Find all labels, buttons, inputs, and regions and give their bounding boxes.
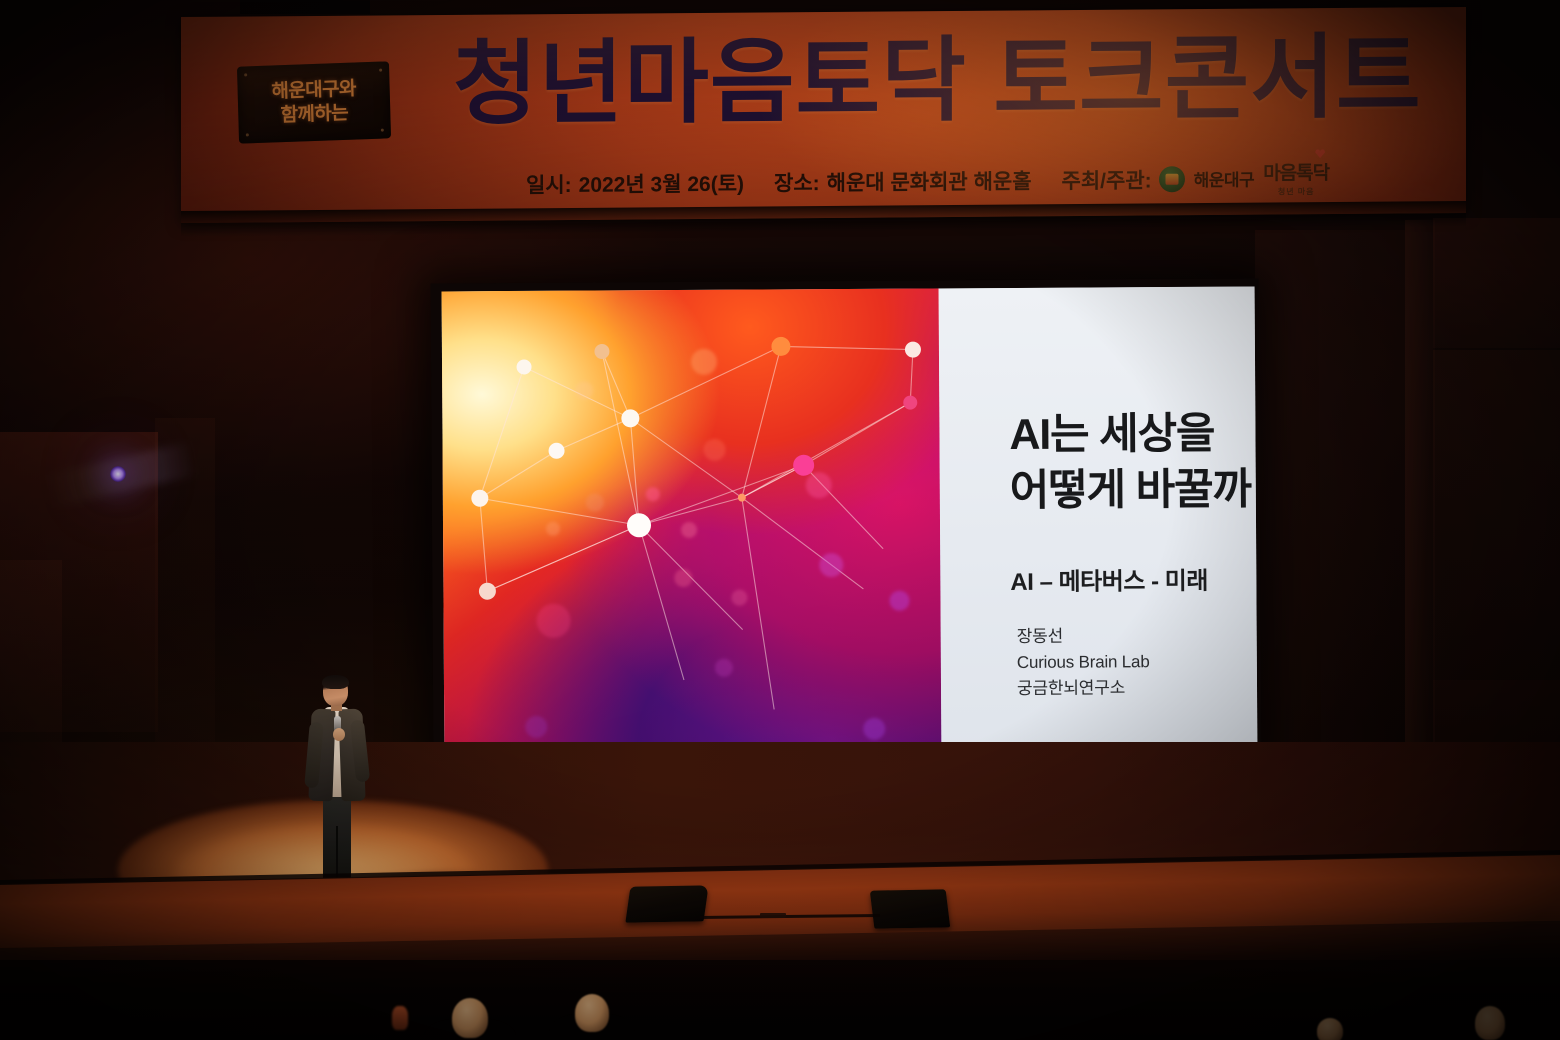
network-node bbox=[738, 494, 746, 502]
network-node bbox=[771, 337, 790, 356]
speaker-hair bbox=[322, 675, 349, 689]
program-logo-sub: 청년 마음 bbox=[1278, 186, 1315, 197]
bokeh-dot bbox=[525, 716, 547, 738]
audience-head bbox=[452, 998, 488, 1038]
heart-icon bbox=[1315, 149, 1325, 158]
network-node bbox=[517, 359, 532, 374]
network-edge bbox=[480, 497, 639, 526]
event-banner: 해운대구와 함께하는 청년마음토닥 토크콘서트 일시: 2022년 3월 26(… bbox=[181, 7, 1466, 223]
slide-credits: 장동선 Curious Brain Lab 궁금한뇌연구소 bbox=[1017, 623, 1150, 701]
rivet-icon bbox=[244, 73, 247, 76]
banner-venue: 장소: 해운대 문화회관 해운홀 bbox=[774, 165, 1032, 197]
haeundae-emblem-icon bbox=[1159, 166, 1185, 192]
network-edge bbox=[639, 465, 804, 525]
bokeh-dot bbox=[536, 604, 570, 638]
network-node bbox=[594, 344, 609, 359]
wall-panel-right-c bbox=[1433, 350, 1560, 680]
floor-monitor-left bbox=[625, 885, 708, 922]
bokeh-dot bbox=[819, 553, 843, 577]
network-node bbox=[479, 583, 496, 600]
bokeh-dot bbox=[806, 472, 832, 498]
floor-monitor-right bbox=[870, 889, 951, 928]
bokeh-dot bbox=[889, 591, 909, 611]
network-node bbox=[627, 513, 651, 537]
slide-title-line-1: AI는 세상을 bbox=[1009, 406, 1257, 464]
banner-host: 주최/주관: 해운대구 마음톡닥 청년 마음 bbox=[1062, 158, 1330, 199]
bokeh-dot bbox=[863, 718, 885, 740]
banner-host-label: 주최/주관: bbox=[1062, 164, 1152, 195]
stage-photo-scene: 해운대구와 함께하는 청년마음토닥 토크콘서트 일시: 2022년 3월 26(… bbox=[0, 0, 1560, 1040]
audience-hand bbox=[392, 1006, 408, 1030]
banner-date-value: 2022년 3월 26(토) bbox=[579, 167, 744, 198]
floor-tape-marker bbox=[760, 913, 786, 918]
banner-plaque: 해운대구와 함께하는 bbox=[237, 61, 391, 143]
network-node bbox=[621, 409, 639, 427]
network-node bbox=[471, 490, 488, 507]
credit-lab-kr: 궁금한뇌연구소 bbox=[1017, 675, 1150, 702]
network-node bbox=[905, 342, 921, 358]
credit-lab-en: Curious Brain Lab bbox=[1017, 649, 1150, 676]
bokeh-dot bbox=[691, 349, 717, 375]
banner-subinfo: 일시: 2022년 3월 26(토) 장소: 해운대 문화회관 해운홀 주최/주… bbox=[526, 157, 1466, 203]
banner-title: 청년마음토닥 토크콘서트 bbox=[453, 31, 1453, 131]
network-edge bbox=[479, 367, 525, 498]
network-edge bbox=[630, 418, 741, 499]
banner-venue-value: 해운대 문화회관 해운홀 bbox=[827, 165, 1032, 197]
banner-date-label: 일시: bbox=[526, 168, 572, 198]
bokeh-dot bbox=[586, 493, 604, 511]
speaker-hand bbox=[333, 728, 345, 741]
network-edge bbox=[480, 498, 488, 591]
network-edge bbox=[742, 497, 774, 709]
credit-speaker-name: 장동선 bbox=[1017, 623, 1150, 650]
audience-head bbox=[1317, 1018, 1343, 1040]
slide-title: AI는 세상을 어떻게 바꿀까 bbox=[1009, 406, 1257, 520]
haeundae-logo-text: 해운대구 bbox=[1194, 166, 1255, 191]
audience-silhouettes bbox=[0, 960, 1560, 1040]
network-edge bbox=[781, 346, 913, 351]
blue-point-light-icon bbox=[110, 466, 126, 482]
program-logo: 마음톡닥 청년 마음 bbox=[1263, 158, 1329, 198]
slide-text-panel: AI는 세상을 어떻게 바꿀까 AI – 메타버스 - 미래 장동선 Curio… bbox=[939, 286, 1258, 757]
banner-venue-label: 장소: bbox=[774, 167, 820, 197]
audience-head bbox=[1475, 1006, 1505, 1040]
slide-subtitle: AI – 메타버스 - 미래 bbox=[1010, 561, 1208, 597]
bokeh-dot bbox=[546, 522, 560, 536]
bokeh-dot bbox=[715, 659, 733, 677]
projection-screen: AI는 세상을 어떻게 바꿀까 AI – 메타버스 - 미래 장동선 Curio… bbox=[431, 278, 1262, 765]
bokeh-dot bbox=[674, 569, 692, 587]
bokeh-dot bbox=[575, 382, 593, 400]
program-logo-main: 마음톡닥 bbox=[1263, 158, 1329, 186]
network-edge bbox=[630, 418, 639, 525]
bokeh-dot bbox=[646, 487, 660, 501]
rivet-icon bbox=[379, 69, 382, 72]
slide-graphic-network bbox=[442, 288, 942, 760]
bokeh-dot bbox=[731, 590, 747, 606]
plaque-line-1: 해운대구와 bbox=[271, 78, 356, 104]
network-edge bbox=[480, 451, 557, 498]
presentation-slide: AI는 세상을 어떻게 바꿀까 AI – 메타버스 - 미래 장동선 Curio… bbox=[442, 286, 1258, 760]
audience-head bbox=[575, 994, 609, 1032]
rigging-bar bbox=[240, 0, 370, 14]
wall-panel-right-d bbox=[1433, 218, 1560, 348]
bokeh-dot bbox=[681, 522, 697, 538]
network-edge bbox=[602, 351, 630, 418]
banner-logos: 해운대구 마음톡닥 청년 마음 bbox=[1159, 158, 1329, 198]
network-edge bbox=[803, 403, 910, 466]
plaque-line-2: 함께하는 bbox=[280, 101, 348, 127]
rivet-icon bbox=[246, 133, 249, 136]
rivet-icon bbox=[381, 129, 384, 132]
slide-title-line-2: 어떻게 바꿀까 bbox=[1010, 462, 1258, 520]
network-edge bbox=[742, 497, 864, 590]
network-node bbox=[549, 443, 565, 459]
network-node bbox=[793, 455, 814, 476]
bokeh-dot bbox=[703, 439, 725, 461]
banner-date: 일시: 2022년 3월 26(토) bbox=[526, 167, 744, 199]
network-node bbox=[903, 396, 917, 410]
network-edge bbox=[487, 525, 639, 591]
network-edge bbox=[602, 351, 639, 525]
